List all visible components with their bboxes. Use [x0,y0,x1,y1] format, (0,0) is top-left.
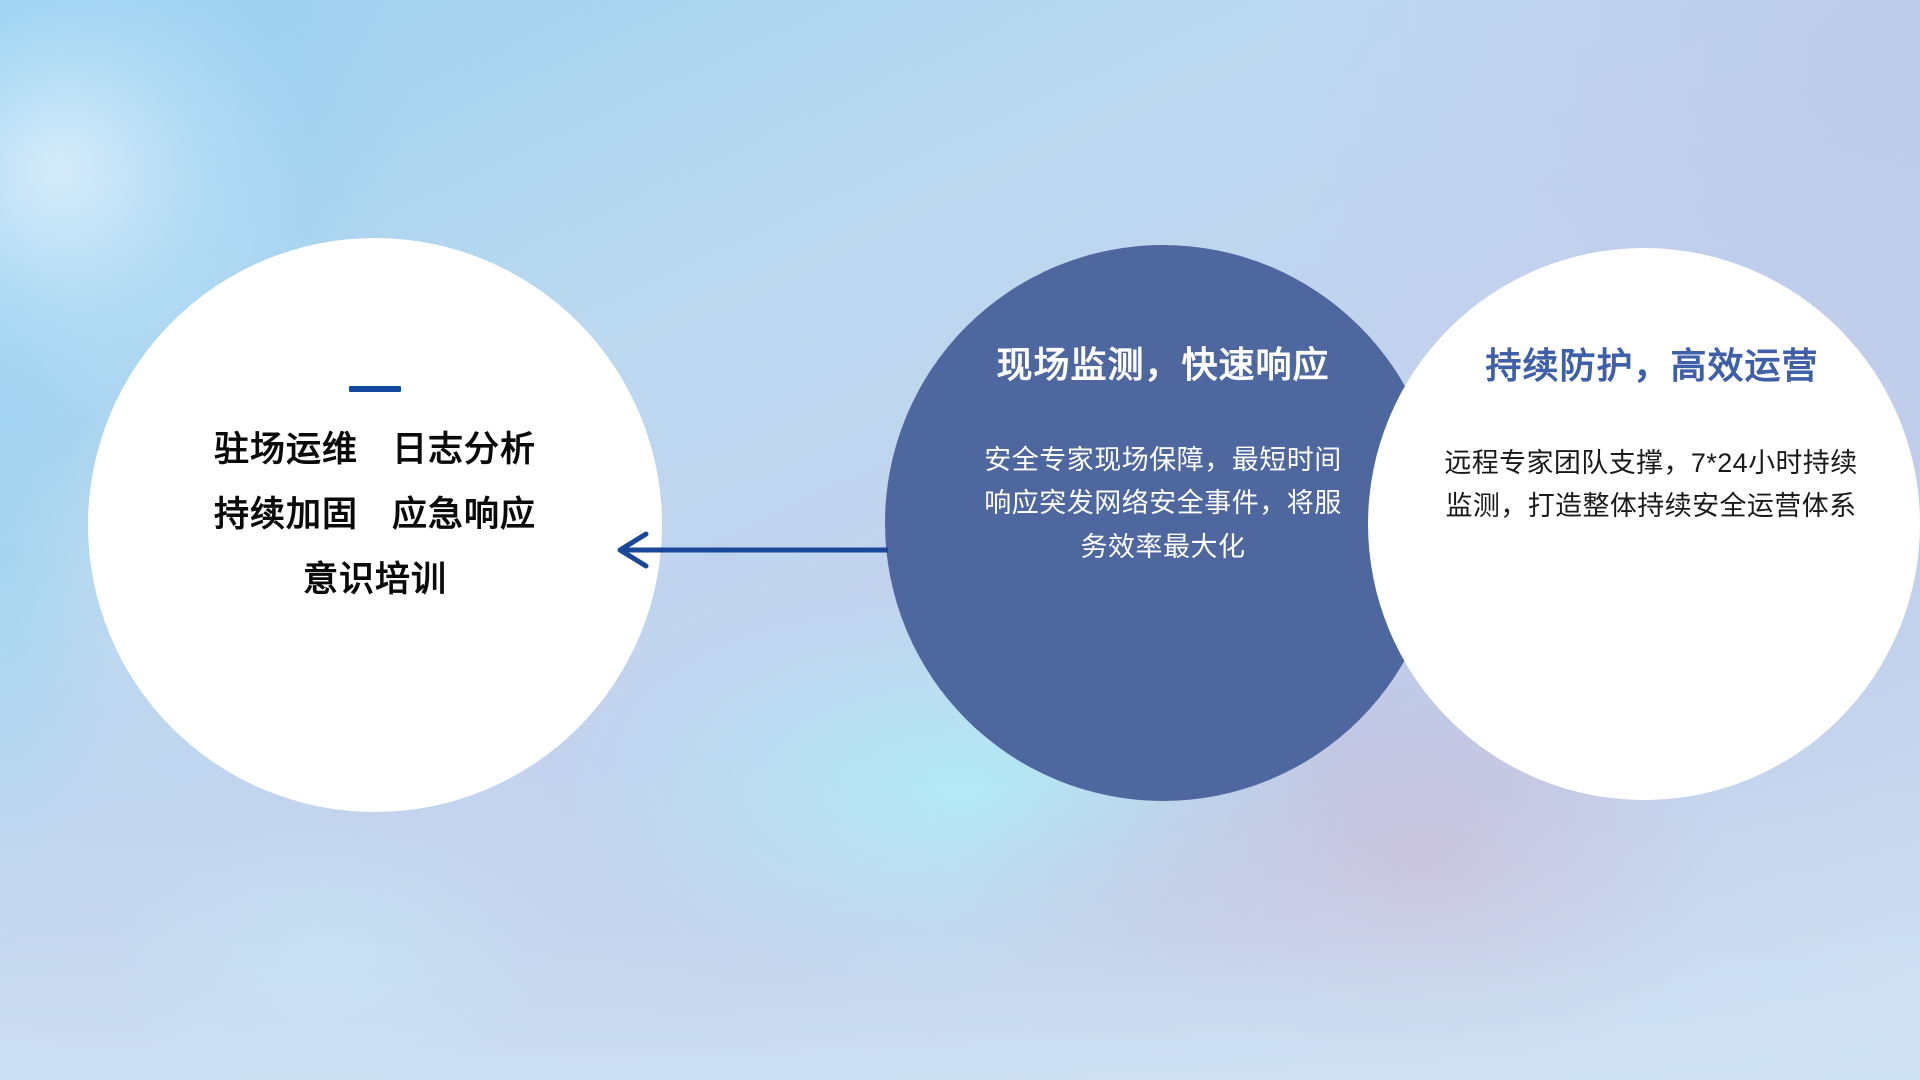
right-white-circle [1368,248,1920,800]
capability-tag-row: 驻场运维 日志分析 [214,432,536,469]
left-arrow-icon [600,515,890,585]
capability-tag: 持续加固 [214,497,358,534]
middle-blue-circle [885,245,1441,801]
slide-canvas: 驻场运维 日志分析 持续加固 应急响应 意识培训 现场监测，快速响应 安全专家现… [0,0,1920,1080]
capability-tag: 日志分析 [392,432,536,469]
divider-dash-icon [349,386,401,392]
capability-tag: 意识培训 [303,562,447,599]
capability-tag-list: 驻场运维 日志分析 持续加固 应急响应 意识培训 [214,432,536,598]
capability-tag-row: 意识培训 [303,562,447,599]
left-circle-content: 驻场运维 日志分析 持续加固 应急响应 意识培训 [88,238,662,812]
capability-tag: 驻场运维 [214,432,358,469]
capability-tag-row: 持续加固 应急响应 [214,497,536,534]
capability-tag: 应急响应 [392,497,536,534]
